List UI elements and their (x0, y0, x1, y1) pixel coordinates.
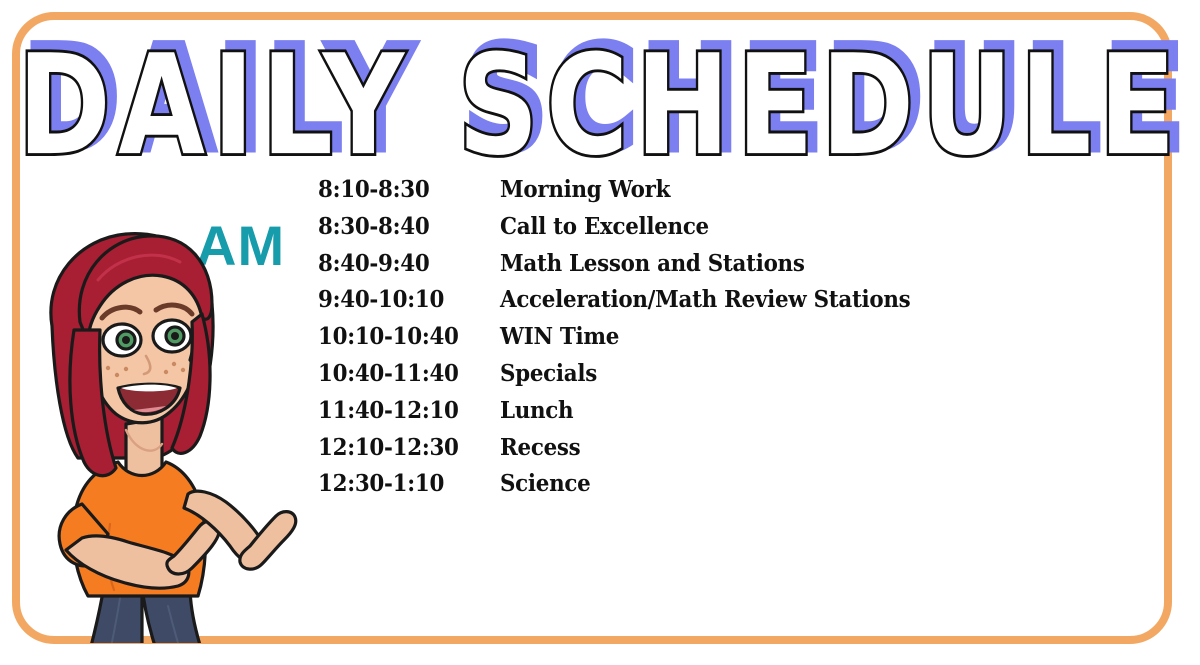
page-title: DAILY SCHEDULE DAILY SCHEDULE (0, 34, 1200, 179)
row-time: 8:40-9:40 (318, 250, 487, 277)
row-activity: Acceleration/Math Review Stations (500, 286, 910, 313)
row-activity: Math Lesson and Stations (500, 250, 805, 277)
table-row: 9:40-10:10 Acceleration/Math Review Stat… (318, 286, 1018, 323)
row-time: 12:30-1:10 (318, 470, 487, 497)
table-row: 8:10-8:30 Morning Work (318, 176, 1018, 213)
row-time: 8:30-8:40 (318, 213, 487, 240)
row-activity: Lunch (500, 397, 573, 424)
row-time: 10:10-10:40 (318, 323, 487, 350)
table-row: 8:30-8:40 Call to Excellence (318, 213, 1018, 250)
avatar-pupil-right (171, 332, 179, 340)
row-activity: Science (500, 470, 590, 497)
row-activity: Morning Work (500, 176, 670, 203)
avatar (22, 218, 302, 643)
row-activity: WIN Time (500, 323, 619, 350)
title-face-layer: DAILY SCHEDULE (17, 26, 1182, 186)
row-time: 11:40-12:10 (318, 397, 487, 424)
table-row: 12:10-12:30 Recess (318, 434, 1018, 471)
row-time: 8:10-8:30 (318, 176, 487, 203)
avatar-pupil-left (122, 336, 130, 344)
table-row: 10:10-10:40 WIN Time (318, 323, 1018, 360)
daily-schedule-poster: DAILY SCHEDULE DAILY SCHEDULE AM (0, 0, 1200, 665)
schedule-table: 8:10-8:30 Morning Work 8:30-8:40 Call to… (318, 176, 1018, 507)
row-activity: Call to Excellence (500, 213, 709, 240)
table-row: 8:40-9:40 Math Lesson and Stations (318, 250, 1018, 287)
row-activity: Specials (500, 360, 597, 387)
row-time: 10:40-11:40 (318, 360, 487, 387)
table-row: 11:40-12:10 Lunch (318, 397, 1018, 434)
title-text-stack: DAILY SCHEDULE DAILY SCHEDULE (17, 37, 1182, 175)
table-row: 10:40-11:40 Specials (318, 360, 1018, 397)
row-activity: Recess (500, 434, 580, 461)
row-time: 9:40-10:10 (318, 286, 487, 313)
avatar-illustration (22, 218, 302, 643)
table-row: 12:30-1:10 Science (318, 470, 1018, 507)
row-time: 12:10-12:30 (318, 434, 487, 461)
